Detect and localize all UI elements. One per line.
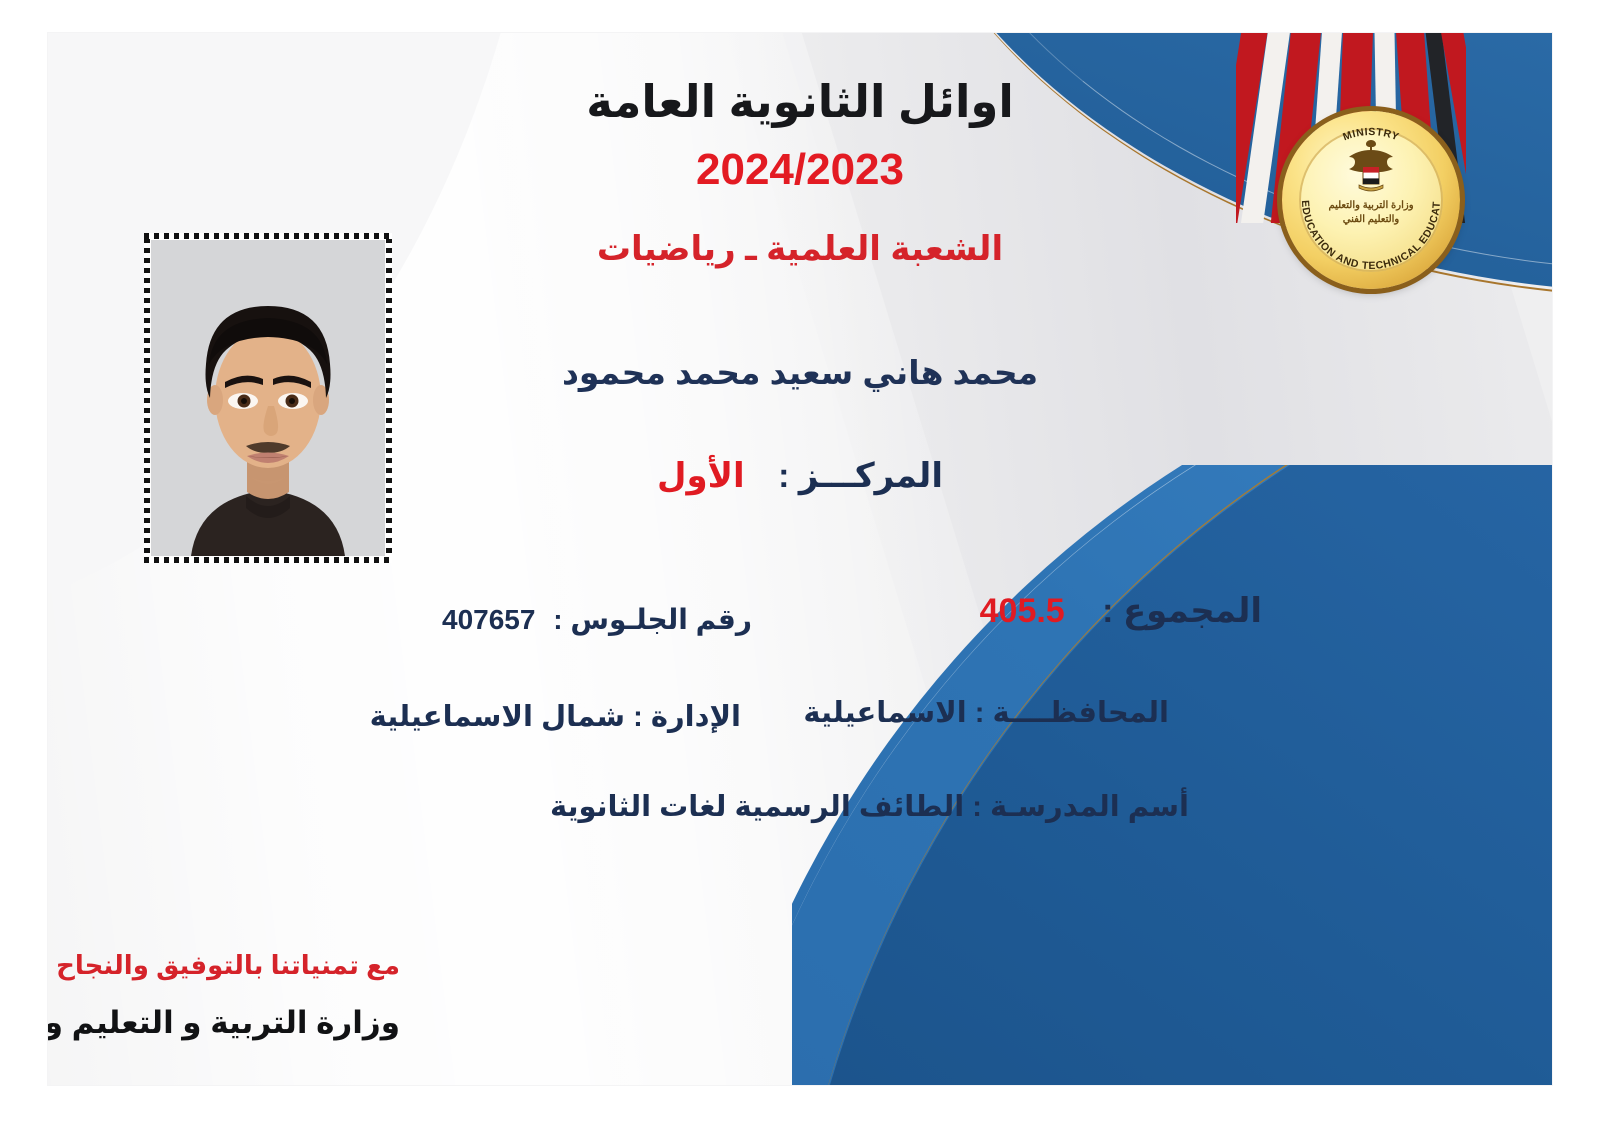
- rank-label: المركـــز :: [778, 457, 943, 495]
- wishes-text: مع تمنياتنا بالتوفيق والنجاح لابنائنا: [48, 950, 400, 981]
- total-score-value: 405.5: [980, 592, 1065, 631]
- seat-number-row: رقم الجلـوس : 407657: [442, 603, 752, 636]
- bottom-right-swoosh: [792, 465, 1552, 1085]
- seat-number-value: 407657: [442, 604, 535, 636]
- academic-year: 2024/2023: [48, 145, 1552, 195]
- page-background: MINISTRY OF EDUCATION AND TECHNICAL EDUC…: [0, 0, 1600, 1132]
- certificate-card: MINISTRY OF EDUCATION AND TECHNICAL EDUC…: [48, 33, 1552, 1085]
- student-photo: [151, 240, 385, 556]
- student-photo-frame: [144, 233, 392, 563]
- governorate-label: المحافظــــة :: [975, 697, 1169, 729]
- medal-arabic-line-2: والتعليم الفني: [1282, 213, 1460, 227]
- administration-value: شمال الاسماعيلية: [370, 701, 625, 733]
- rank-row: المركـــز : الأول: [48, 456, 1552, 496]
- school-row: أسم المدرسـة : الطائف الرسمية لغات الثان…: [550, 789, 1189, 824]
- student-name: محمد هاني سعيد محمد محمود: [48, 353, 1552, 392]
- rank-value: الأول: [657, 457, 745, 495]
- administration-row: الإدارة : شمال الاسماعيلية: [370, 699, 741, 734]
- page-title: اوائل الثانوية العامة: [48, 75, 1552, 128]
- governorate-value: الاسماعيلية: [803, 697, 966, 729]
- total-score-row: المجموع : 405.5: [980, 591, 1262, 631]
- medal-arabic-text: وزارة التربية والتعليم والتعليم الفني: [1282, 199, 1460, 226]
- medal-arabic-line-1: وزارة التربية والتعليم: [1282, 199, 1460, 213]
- total-score-label: المجموع :: [1102, 592, 1262, 630]
- school-label: أسم المدرسـة :: [972, 791, 1189, 823]
- ministry-name: وزارة التربية و التعليم والتعليم الفنى: [48, 1005, 400, 1041]
- study-track: الشعبة العلمية ـ رياضيات: [48, 229, 1552, 269]
- governorate-row: المحافظــــة : الاسماعيلية: [803, 695, 1169, 730]
- school-value: الطائف الرسمية لغات الثانوية: [550, 791, 964, 823]
- blue-wedge-hairline: [792, 465, 1552, 1085]
- seat-number-label: رقم الجلـوس :: [553, 604, 752, 635]
- administration-label: الإدارة :: [633, 701, 741, 733]
